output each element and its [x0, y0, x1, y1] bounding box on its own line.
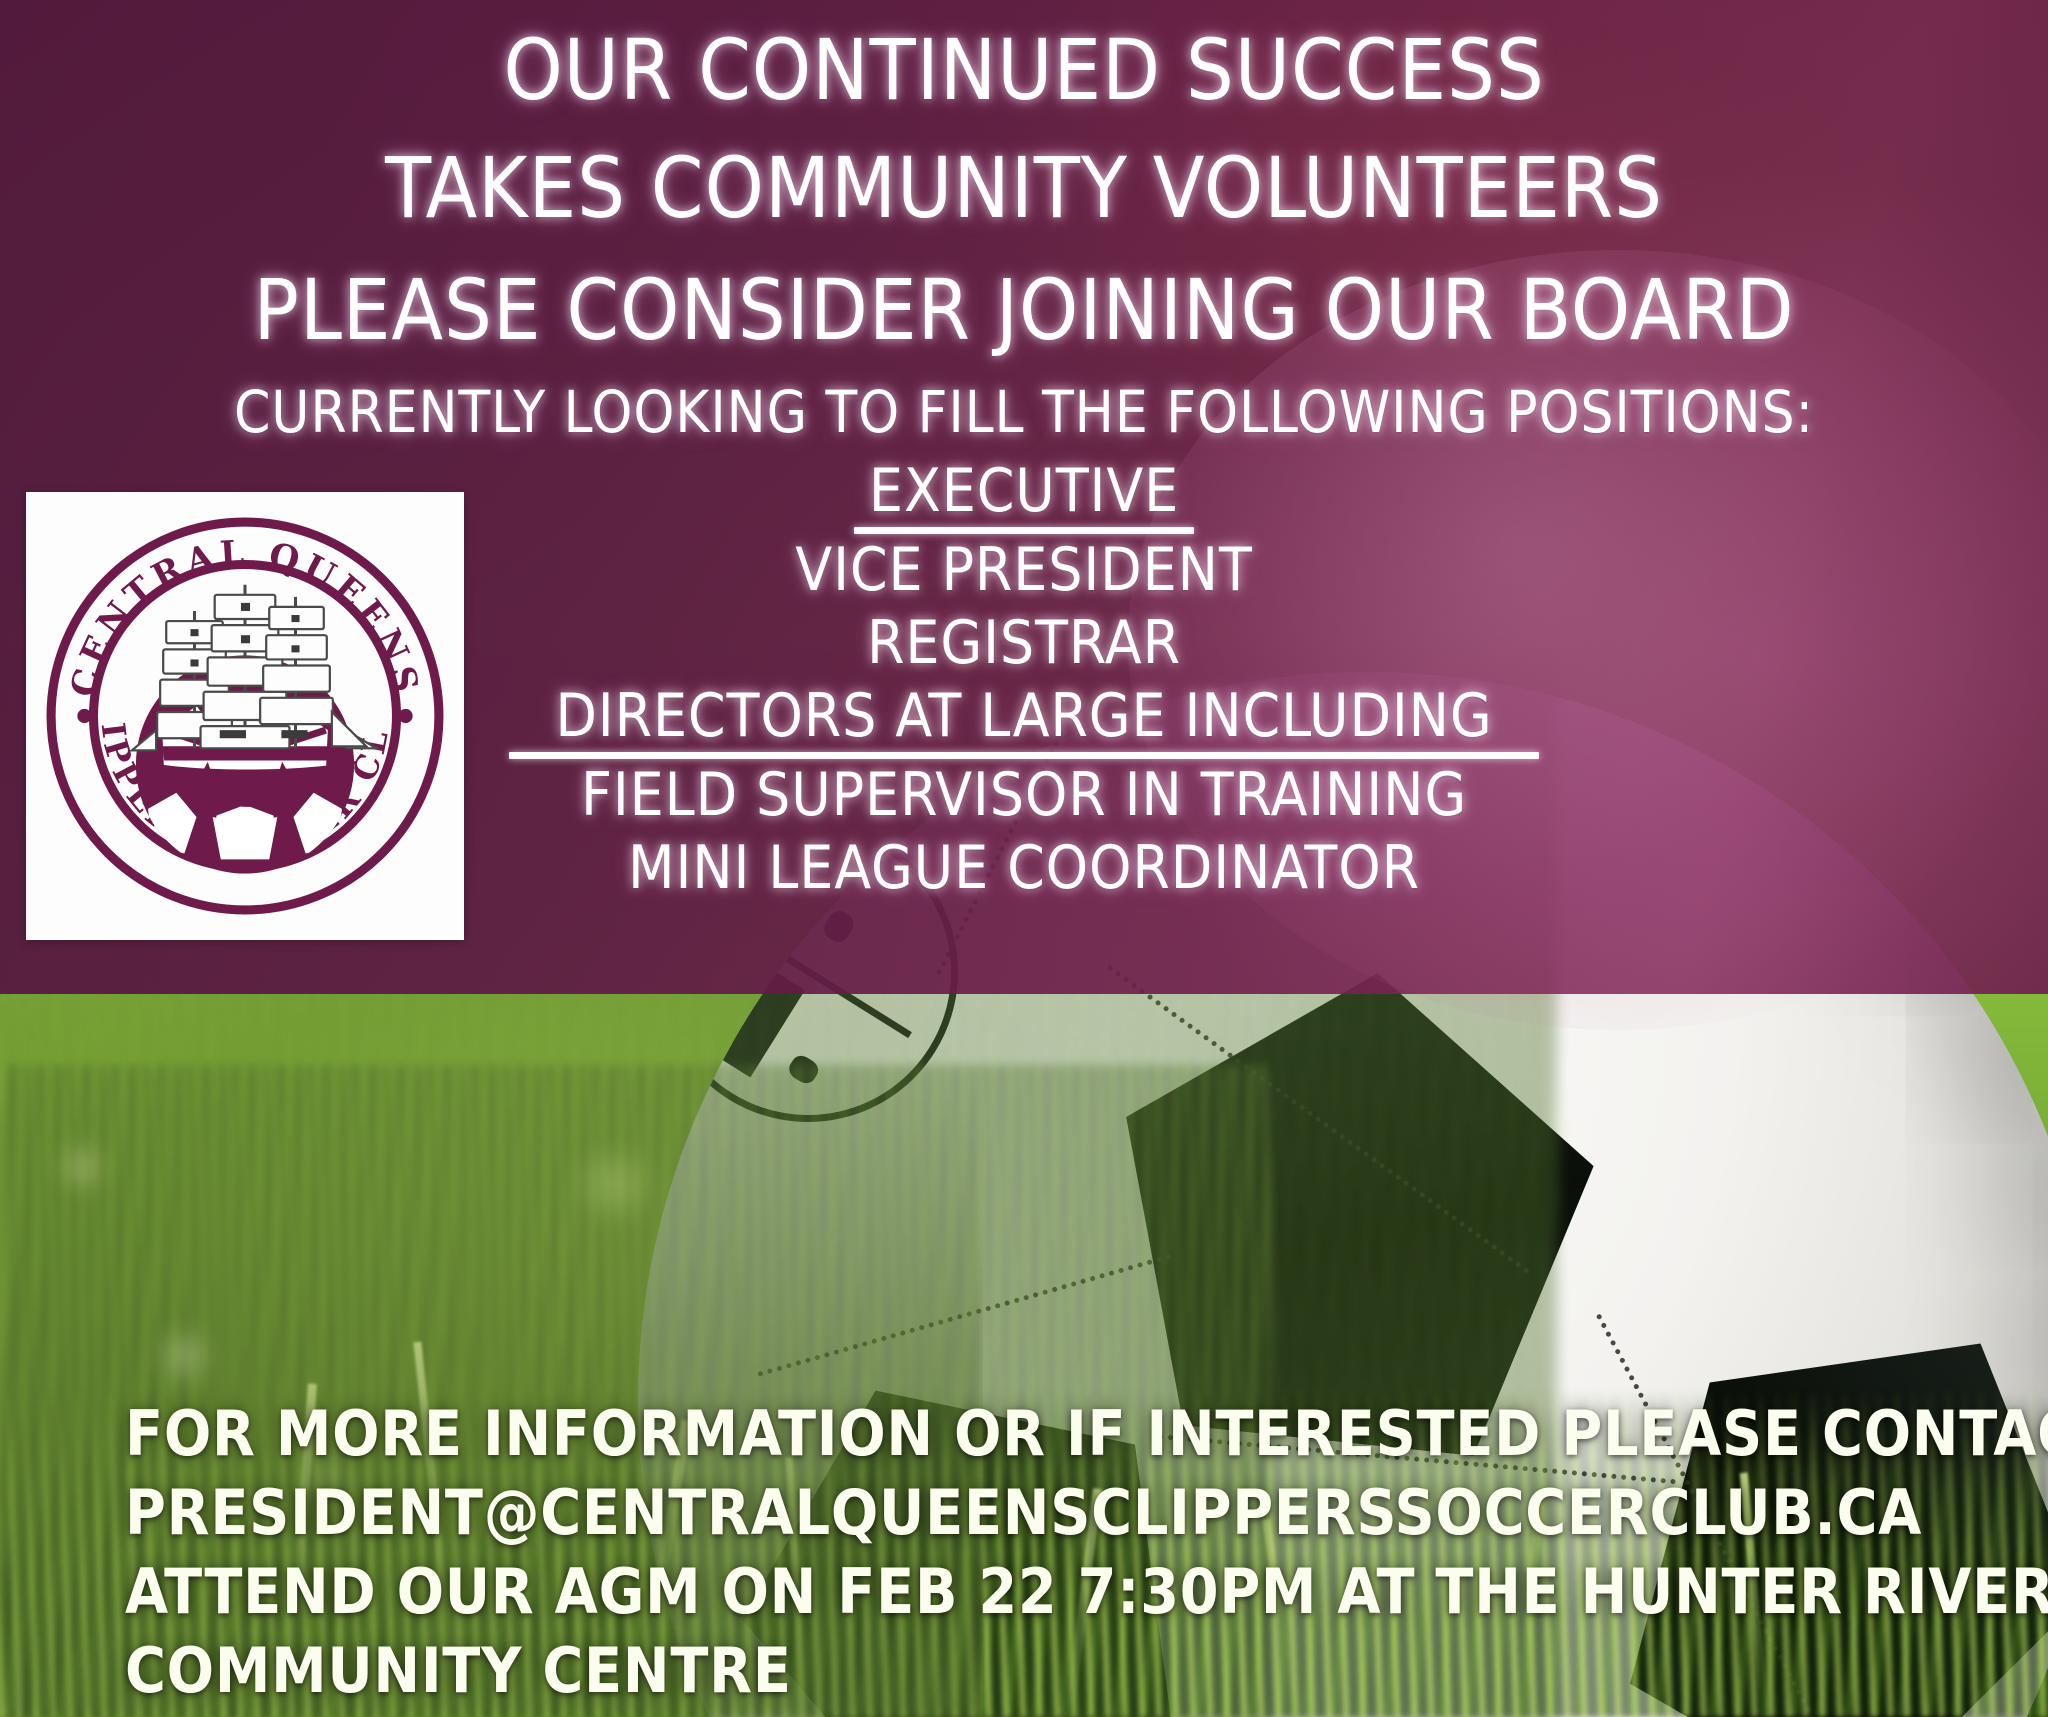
ball-showthrough-glow: [1128, 250, 2048, 1030]
foreground-grass-left: [0, 1077, 983, 1717]
club-crest-icon: CENTRAL QUEENS CLIPPERS SOCCER CLUB: [43, 514, 447, 918]
club-logo-box: CENTRAL QUEENS CLIPPERS SOCCER CLUB: [26, 492, 464, 940]
poster-root: OUR CONTINUED SUCCESS TAKES COMMUNITY VO…: [0, 0, 2048, 1717]
